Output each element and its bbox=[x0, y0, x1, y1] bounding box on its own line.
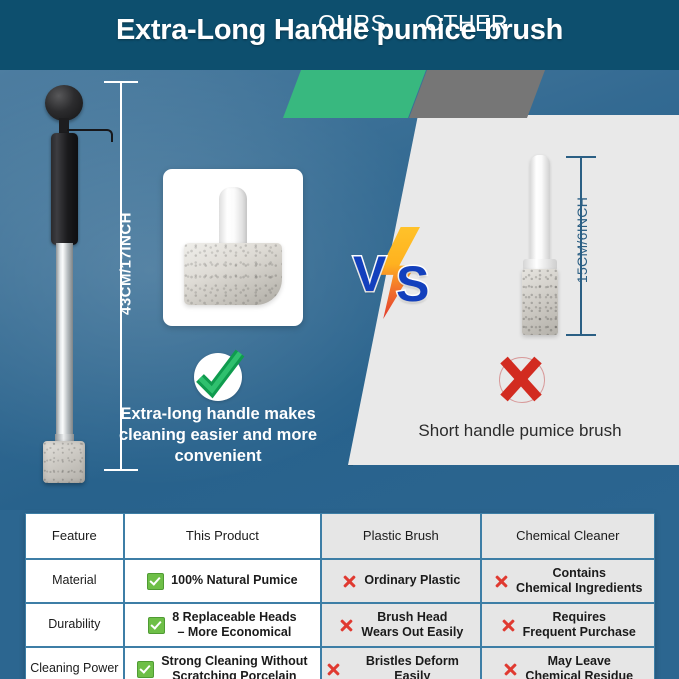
cell-feature: Durability bbox=[25, 603, 124, 647]
long-handle-brush-image bbox=[34, 85, 94, 475]
cell-plastic-brush: Bristles Deform Easily bbox=[321, 647, 480, 679]
table-header-row: Feature This Product Plastic Brush Chemi… bbox=[25, 513, 655, 559]
cell-text: Brush HeadWears Out Easily bbox=[361, 610, 463, 641]
cell-plastic-brush: Brush HeadWears Out Easily bbox=[321, 603, 480, 647]
cell-text: Ordinary Plastic bbox=[364, 573, 460, 588]
cell-this-product: 100% Natural Pumice bbox=[124, 559, 322, 603]
product-head-card bbox=[163, 169, 303, 326]
cell-text: May LeaveChemical Residue bbox=[525, 654, 633, 679]
cell-this-product: 8 Replaceable Heads– More Economical bbox=[124, 603, 322, 647]
table-row: Cleaning Power Strong Cleaning WithoutSc… bbox=[25, 647, 655, 679]
brush-steel-rod bbox=[56, 243, 73, 439]
dimension-line-right: 15CM/6INCH bbox=[566, 156, 596, 336]
green-check-icon bbox=[188, 345, 250, 407]
comparison-table: Feature This Product Plastic Brush Chemi… bbox=[25, 513, 655, 679]
cell-content: Bristles Deform Easily bbox=[325, 654, 476, 679]
cross-icon bbox=[493, 573, 509, 589]
cell-text: RequiresFrequent Purchase bbox=[523, 610, 636, 641]
cell-this-product: Strong Cleaning WithoutScratching Porcel… bbox=[124, 647, 322, 679]
cell-feature: Material bbox=[25, 559, 124, 603]
cell-content: 100% Natural Pumice bbox=[128, 573, 318, 590]
cross-icon bbox=[500, 617, 516, 633]
cell-content: May LeaveChemical Residue bbox=[485, 654, 651, 679]
cell-plastic-brush: Ordinary Plastic bbox=[321, 559, 480, 603]
cell-content: Ordinary Plastic bbox=[325, 573, 476, 589]
head-pumice-stone bbox=[184, 243, 282, 305]
cell-text: 100% Natural Pumice bbox=[171, 573, 297, 588]
comparison-ribbon bbox=[0, 70, 679, 118]
cell-chemical-cleaner: RequiresFrequent Purchase bbox=[481, 603, 655, 647]
comparison-table-body: Feature This Product Plastic Brush Chemi… bbox=[25, 513, 655, 679]
table-row: Material 100% Natural Pumice Ordinary Pl… bbox=[25, 559, 655, 603]
check-icon bbox=[148, 617, 165, 634]
dimension-label-left: 43CM/17INCH bbox=[118, 199, 135, 329]
cell-content: 8 Replaceable Heads– More Economical bbox=[128, 610, 318, 641]
brush-knob-icon bbox=[45, 85, 83, 121]
short-handle-brush-image bbox=[518, 155, 562, 335]
caption-right: Short handle pumice brush bbox=[375, 420, 665, 442]
ribbon-label-ours: OURS bbox=[318, 10, 386, 37]
versus-letter-v: V bbox=[353, 249, 386, 299]
cell-text: 8 Replaceable Heads– More Economical bbox=[172, 610, 296, 641]
cross-icon bbox=[502, 661, 518, 677]
cell-content: ContainsChemical Ingredients bbox=[485, 566, 651, 597]
brush-grip bbox=[51, 133, 78, 245]
dimension-cap-bottom bbox=[104, 469, 138, 471]
ribbon-label-other: OTHER bbox=[425, 10, 508, 37]
brush-pumice-head bbox=[43, 441, 85, 483]
dimension-label-right: 15CM/6INCH bbox=[574, 188, 590, 292]
short-brush-handle bbox=[530, 155, 550, 267]
ribbon-other-shape bbox=[409, 70, 545, 118]
table-header-feature: Feature bbox=[25, 513, 124, 559]
cell-content: Brush HeadWears Out Easily bbox=[325, 610, 476, 641]
table-header-chemical-cleaner: Chemical Cleaner bbox=[481, 513, 655, 559]
dimension-cap-bottom bbox=[566, 334, 596, 336]
cell-text: Bristles Deform Easily bbox=[348, 654, 476, 679]
cell-text: ContainsChemical Ingredients bbox=[516, 566, 642, 597]
versus-letter-s: S bbox=[396, 259, 429, 309]
pumice-head-illustration bbox=[177, 181, 289, 314]
cross-icon bbox=[341, 573, 357, 589]
check-icon bbox=[137, 661, 154, 678]
head-white-connector bbox=[219, 187, 247, 249]
cell-content: RequiresFrequent Purchase bbox=[485, 610, 651, 641]
cross-icon bbox=[338, 617, 354, 633]
versus-badge: V S bbox=[352, 225, 438, 320]
cell-text: Strong Cleaning WithoutScratching Porcel… bbox=[161, 654, 307, 679]
ribbon-ours-shape bbox=[283, 70, 426, 118]
red-cross-icon bbox=[492, 350, 550, 408]
caption-left: Extra-long handle makes cleaning easier … bbox=[112, 404, 324, 467]
cell-content: Strong Cleaning WithoutScratching Porcel… bbox=[128, 654, 318, 679]
short-brush-pumice-head bbox=[522, 269, 558, 335]
cell-chemical-cleaner: ContainsChemical Ingredients bbox=[481, 559, 655, 603]
table-header-this-product: This Product bbox=[124, 513, 322, 559]
infographic-page: Extra-Long Handle pumice brush OURS OTHE… bbox=[0, 0, 679, 679]
cell-chemical-cleaner: May LeaveChemical Residue bbox=[481, 647, 655, 679]
cross-icon bbox=[325, 661, 341, 677]
table-header-plastic-brush: Plastic Brush bbox=[321, 513, 480, 559]
table-row: Durability 8 Replaceable Heads– More Eco… bbox=[25, 603, 655, 647]
cell-feature: Cleaning Power bbox=[25, 647, 124, 679]
check-icon bbox=[147, 573, 164, 590]
